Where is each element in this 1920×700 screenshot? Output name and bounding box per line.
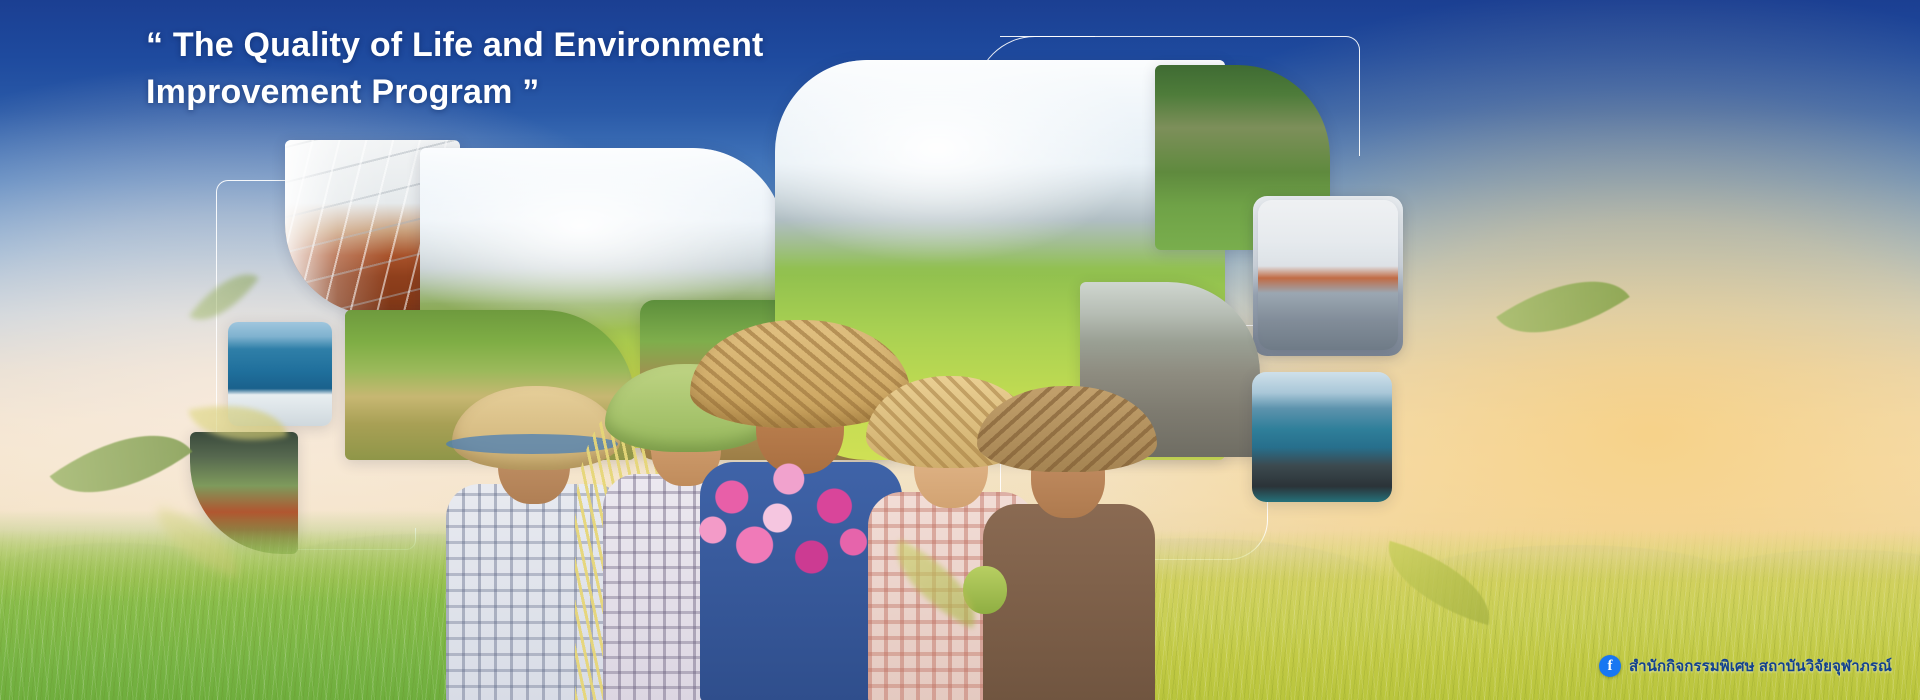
person-man-with-fruit [975,370,1160,700]
facebook-credit-label: สำนักกิจกรรมพิเศษ สถาบันวิจัยจุฬาภรณ์ [1629,654,1892,678]
hero-banner: “ The Quality of Life and Environment Im… [0,0,1920,700]
photo-scuba-divers[interactable] [1252,372,1392,502]
photo-hall-interior[interactable] [1258,200,1398,350]
facebook-icon[interactable]: f [1599,655,1621,677]
facebook-credit[interactable]: f สำนักกิจกรรมพิเศษ สถาบันวิจัยจุฬาภรณ์ [1599,654,1892,678]
orchid-bouquet [690,452,880,602]
